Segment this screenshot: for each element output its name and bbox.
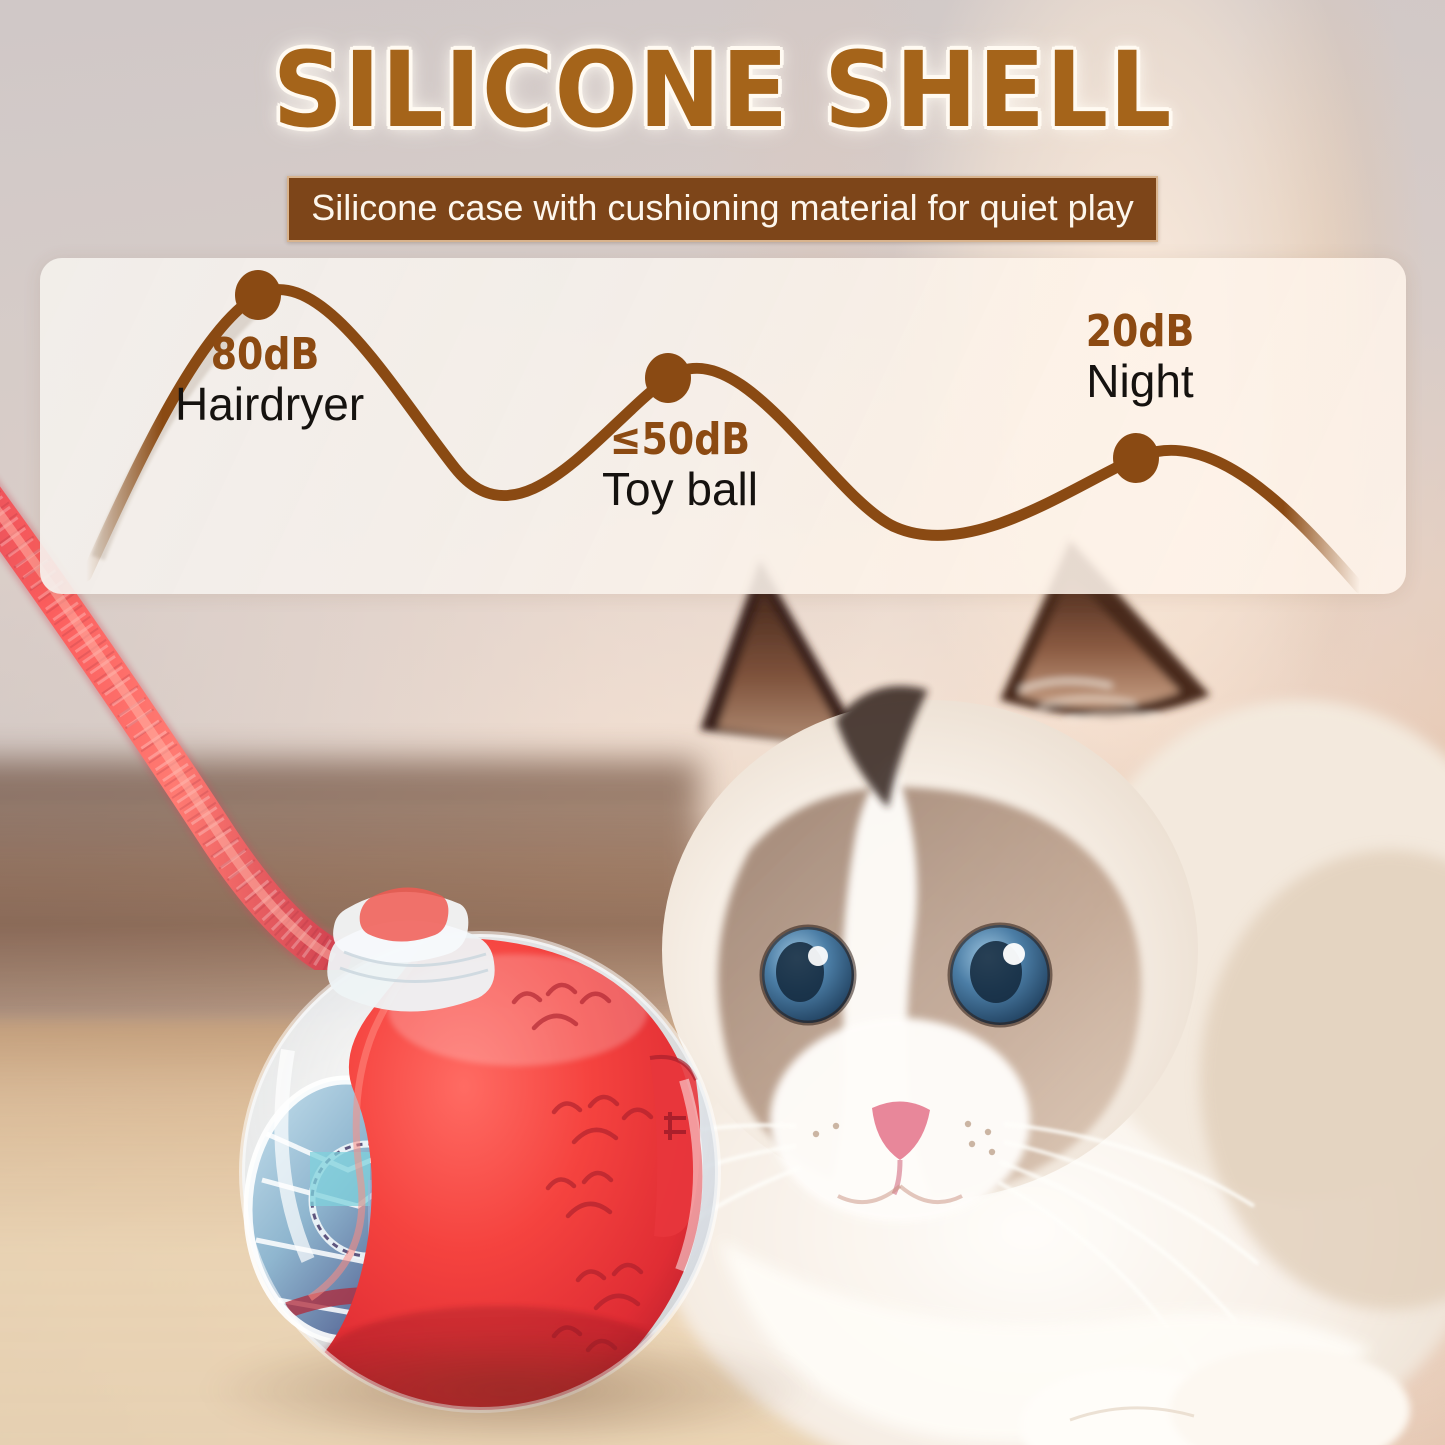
data-point-night <box>1113 433 1159 483</box>
db-value-night: 20dB <box>1063 310 1218 354</box>
label-night: 20dB Night <box>1050 310 1230 408</box>
product-marketing-image: SILICONE SHELL Silicone case with cushio… <box>0 0 1445 1445</box>
ball-floor-shadow <box>200 1330 820 1445</box>
page-title: SILICONE SHELL <box>43 38 1401 142</box>
data-point-hairdryer <box>235 270 281 320</box>
subtitle-banner: Silicone case with cushioning material f… <box>287 176 1157 242</box>
db-value-hairdryer: 80dB <box>188 333 343 377</box>
db-name-night: Night <box>1050 354 1230 408</box>
data-point-toy-ball <box>645 353 691 403</box>
db-value-toy-ball: ≤50dB <box>594 418 766 462</box>
noise-comparison-panel: 80dB Hairdryer ≤50dB Toy ball 20dB Night <box>40 258 1406 594</box>
label-toy-ball: ≤50dB Toy ball <box>580 418 780 516</box>
db-name-toy-ball: Toy ball <box>580 462 780 516</box>
label-hairdryer: 80dB Hairdryer <box>175 333 355 431</box>
subtitle-banner-wrap: Silicone case with cushioning material f… <box>0 176 1445 242</box>
db-name-hairdryer: Hairdryer <box>175 377 355 431</box>
